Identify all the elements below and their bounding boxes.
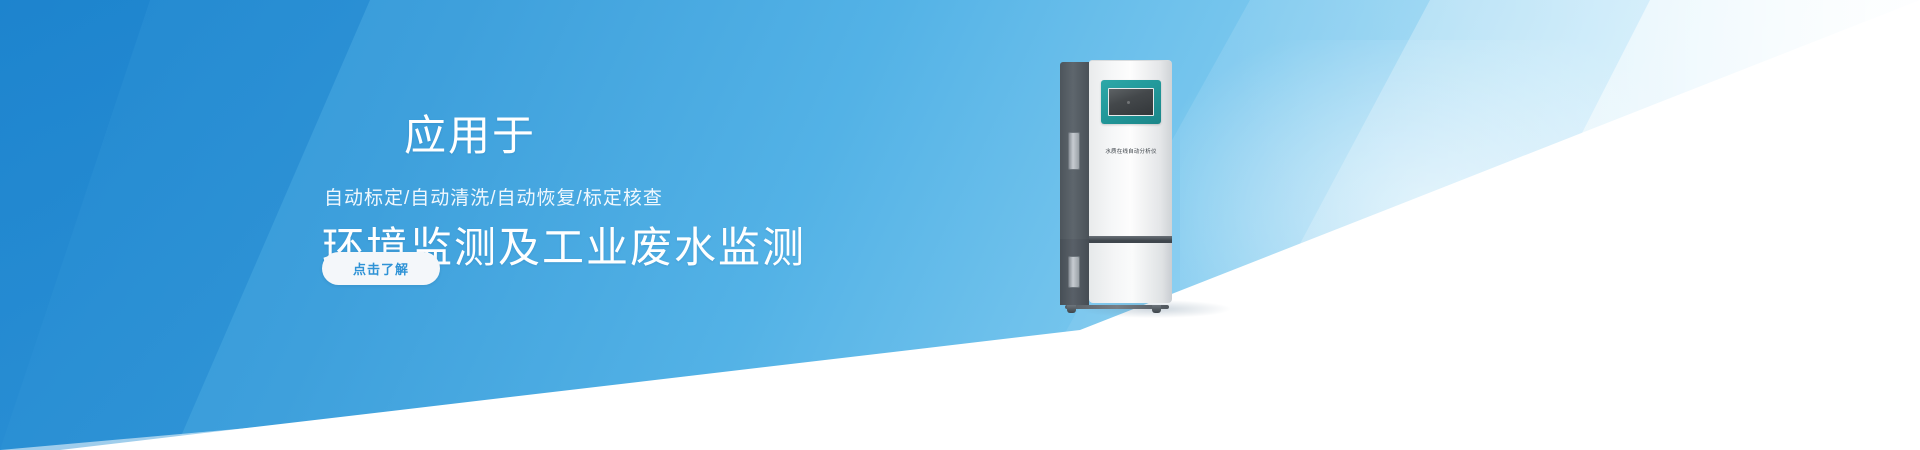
cabinet-caster-right-icon [1152,305,1161,313]
cabinet-handle-lower-icon [1068,256,1080,288]
cabinet-door-lower [1089,241,1172,303]
banner-text-block: 应用于 环境监测及工业废水监测 自动标定/自动清洗/自动恢复/标定核查 [322,0,1082,450]
banner-headline-line-1: 应用于 [404,112,536,159]
product-image: 水质在线自动分析仪 [1060,60,1235,320]
cabinet-handle-upper-icon [1068,132,1080,170]
learn-more-button[interactable]: 点击了解 [322,252,440,285]
banner-headline: 应用于 环境监测及工业废水监测 [322,52,806,388]
analyzer-model-label: 水质在线自动分析仪 [1096,148,1166,155]
analyzer-display-screen [1108,88,1154,116]
banner-subtitle: 自动标定/自动清洗/自动恢复/标定核查 [324,186,663,212]
analyzer-display-bezel [1101,80,1161,124]
analyzer-cabinet: 水质在线自动分析仪 [1060,60,1172,307]
cabinet-caster-left-icon [1067,305,1076,313]
hero-banner: 应用于 环境监测及工业废水监测 自动标定/自动清洗/自动恢复/标定核查 点击了解… [0,0,1920,450]
